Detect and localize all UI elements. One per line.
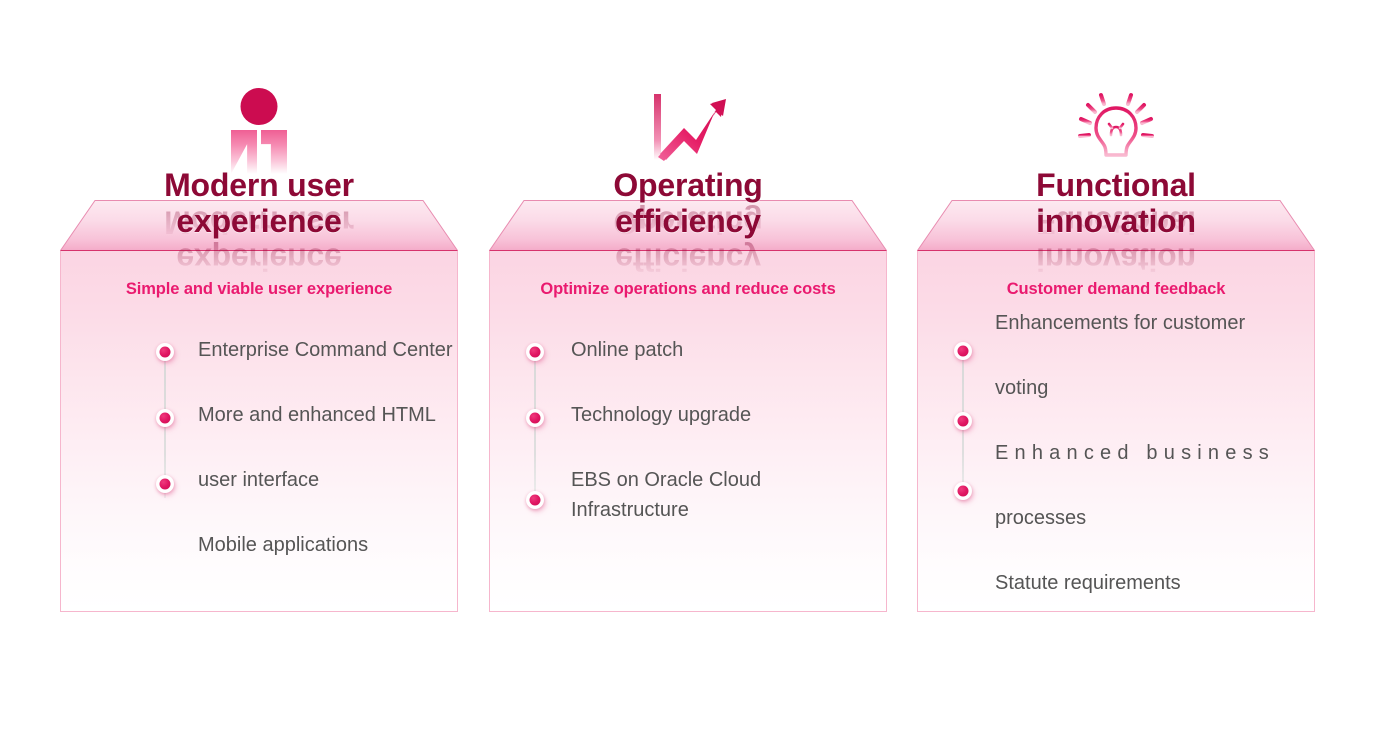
column-2-item-list: Online patch Technology upgrade EBS on O… [571,340,761,565]
column-2-bullet-dot-2 [526,409,544,427]
list-item: Technology upgrade [571,405,761,425]
list-item: user interface [198,470,453,490]
column-1-bullet-dot-1 [156,343,174,361]
column-3-bullet-dot-3 [954,482,972,500]
column-3-icon-area [917,88,1315,176]
column-2-subtitle: Optimize operations and reduce costs [489,280,887,299]
column-2-timeline-rail [534,343,536,498]
column-2-bullet-dot-1 [526,343,544,361]
column-2-title-line-1: Operating [489,167,887,203]
infographic-canvas: Modern user experience Modern user exper… [0,0,1380,730]
column-3-timeline-rail [962,342,964,497]
column-2-title: Operating efficiency [489,167,887,240]
column-1-bullet-dot-2 [156,409,174,427]
column-3-title-line-2: innovation [917,203,1315,239]
column-3-bullet-dot-1 [954,342,972,360]
growth-chart-arrow-icon [640,88,736,176]
person-icon [211,88,307,176]
column-3-bullet-dot-2 [954,412,972,430]
column-2-bullet-dot-3 [526,491,544,509]
column-3-subtitle: Customer demand feedback [917,280,1315,299]
column-3-item-list: Enhancements for customer voting Enhance… [995,313,1275,638]
column-1-subtitle: Simple and viable user experience [60,280,458,299]
column-operating-efficiency: Operating efficiency Operating efficienc… [489,0,887,730]
column-2-title-line-2: efficiency [489,203,887,239]
list-item: Enterprise Command Center [198,340,453,360]
column-1-bullet-dot-3 [156,475,174,493]
column-1-title: Modern user experience [60,167,458,240]
person-head-shape [241,88,278,125]
list-item: More and enhanced HTML [198,405,453,425]
list-item: Statute requirements [995,573,1275,593]
column-1-icon-area [60,88,458,176]
list-item: Infrastructure [571,500,761,520]
column-1-item-list: Enterprise Command Center More and enhan… [198,340,453,600]
list-item: Enhanced business [995,443,1275,463]
list-item: EBS on Oracle Cloud [571,470,761,490]
lightbulb-idea-glyph [1068,88,1164,176]
column-3-title: Functional innovation [917,167,1315,240]
column-1-title-line-2: experience [60,203,458,239]
growth-chart-arrow-glyph [640,88,736,176]
column-1-timeline-rail [164,343,166,498]
list-item: Online patch [571,340,761,360]
list-item: processes [995,508,1275,528]
column-1-title-line-1: Modern user [60,167,458,203]
column-3-title-line-1: Functional [917,167,1315,203]
list-item: Mobile applications [198,535,453,555]
column-modern-user-experience: Modern user experience Modern user exper… [60,0,458,730]
column-2-icon-area [489,88,887,176]
list-item: Enhancements for customer [995,313,1275,333]
list-item: voting [995,378,1275,398]
column-functional-innovation: Functional innovation Functional innovat… [917,0,1315,730]
lightbulb-idea-icon [1068,88,1164,176]
